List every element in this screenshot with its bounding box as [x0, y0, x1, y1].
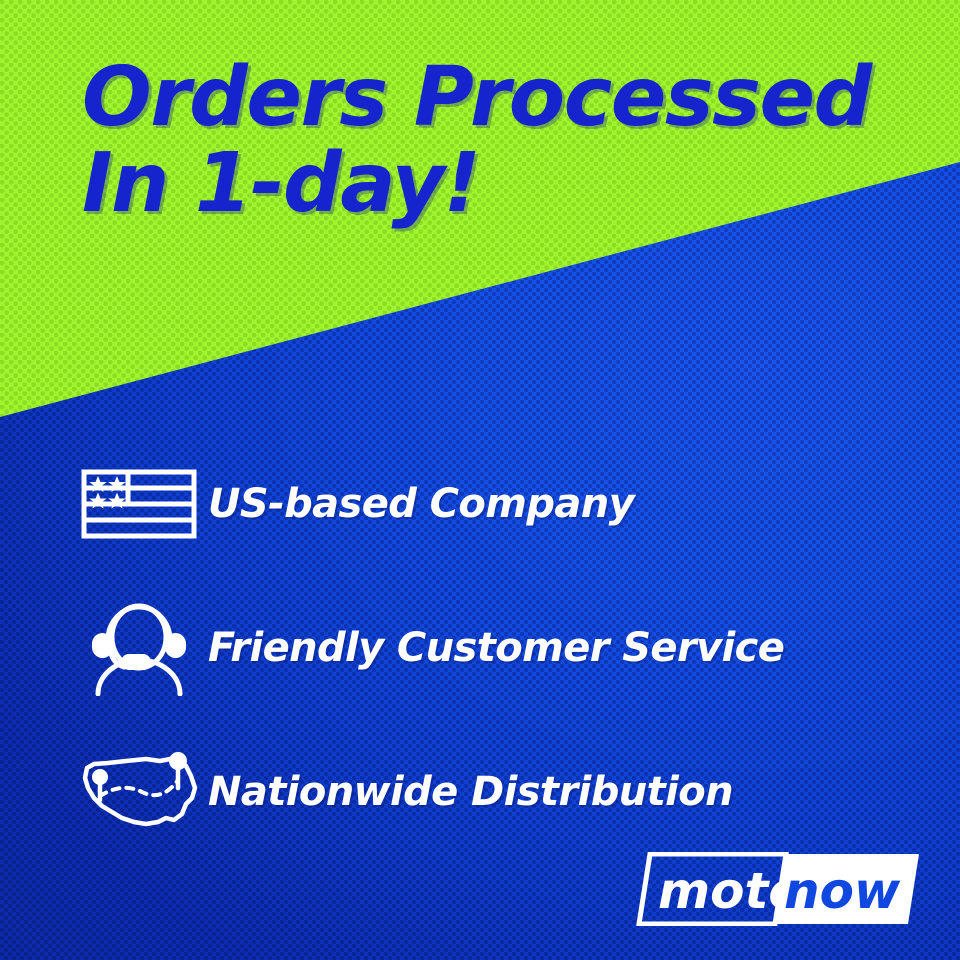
headset-support-icon	[70, 600, 208, 696]
feature-label-nationwide: Nationwide Distribution	[208, 769, 733, 815]
feature-label-us-based: US-based Company	[208, 481, 634, 527]
feature-list: US-based Company	[70, 432, 900, 864]
logo-text-now: now	[784, 862, 901, 920]
page-title: Orders Processed In 1-day!	[82, 58, 912, 225]
us-flag-icon	[70, 464, 208, 544]
motonow-logo[interactable]: moto now	[636, 852, 921, 926]
feature-item-nationwide: Nationwide Distribution	[70, 720, 900, 864]
feature-item-us-based: US-based Company	[70, 432, 900, 576]
logo-text-moto: moto	[658, 862, 803, 920]
feature-item-customer-service: Friendly Customer Service	[70, 576, 900, 720]
feature-label-customer-service: Friendly Customer Service	[208, 625, 784, 671]
promo-banner: Orders Processed In 1-day!	[0, 0, 960, 960]
headline-line-1: Orders Processed	[82, 58, 912, 138]
us-map-pins-icon	[70, 748, 208, 836]
headline-line-2: In 1-day!	[82, 144, 912, 224]
